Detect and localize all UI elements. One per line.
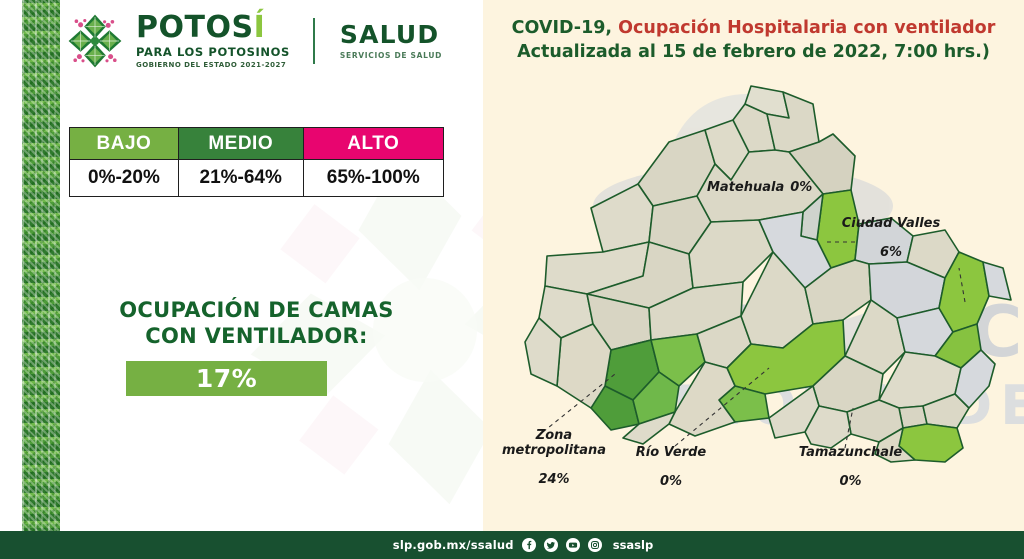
legend-header-row: BAJO MEDIO ALTO (70, 128, 444, 160)
label-tamazunchale-value: 0% (783, 474, 918, 489)
potosi-government-line: GOBIERNO DEL ESTADO 2021-2027 (136, 61, 290, 69)
legend-range-alto: 65%-100% (303, 160, 443, 197)
decorative-pattern-stripe (22, 0, 60, 531)
potosi-tagline: PARA LOS POTOSINOS (136, 45, 290, 59)
facebook-icon[interactable] (522, 538, 536, 552)
youtube-icon[interactable] (566, 538, 580, 552)
left-margin (0, 0, 22, 559)
brand-logo: POTOSÍ PARA LOS POTOSINOS GOBIERNO DEL E… (65, 11, 442, 71)
floral-emblem-icon (65, 11, 125, 71)
label-rio-verde-name: Río Verde (611, 445, 731, 460)
salud-title: SALUD (340, 22, 442, 47)
potosi-accent: Í (254, 10, 266, 45)
report-title-covid: COVID-19, (512, 18, 612, 38)
left-info-panel: POTOSÍ PARA LOS POTOSINOS GOBIERNO DEL E… (60, 0, 483, 531)
twitter-icon[interactable] (544, 538, 558, 552)
occupancy-title: OCUPACIÓN DE CAMAS CON VENTILADOR: (69, 297, 444, 350)
label-zona-metropolitana: Zona metropolitana 24% (489, 428, 619, 487)
label-tamazunchale-name: Tamazunchale (783, 445, 918, 460)
label-ciudad-valles: Ciudad Valles 6% (831, 216, 951, 260)
label-ciudad-valles-name: Ciudad Valles (831, 216, 951, 231)
label-matehuala-name: Matehuala (707, 180, 784, 195)
label-zona-metropolitana-name: Zona metropolitana (489, 428, 619, 458)
legend-header-bajo: BAJO (70, 128, 179, 160)
instagram-icon[interactable] (588, 538, 602, 552)
legend-range-row: 0%-20% 21%-64% 65%-100% (70, 160, 444, 197)
legend-range-bajo: 0%-20% (70, 160, 179, 197)
potosi-wordmark: POTOSÍ PARA LOS POTOSINOS GOBIERNO DEL E… (136, 13, 290, 69)
label-rio-verde-value: 0% (611, 474, 731, 489)
municipalities-map (483, 56, 1024, 486)
salud-subtitle: SERVICIOS DE SALUD (340, 51, 442, 60)
occupancy-value-badge: 17% (126, 361, 327, 396)
slide-canvas: POTOSÍ PARA LOS POTOSINOS GOBIERNO DEL E… (0, 0, 1024, 559)
footer-left-cap (0, 531, 22, 559)
legend-range-medio: 21%-64% (178, 160, 303, 197)
label-ciudad-valles-value: 6% (831, 245, 951, 260)
municipality-area (591, 184, 653, 252)
occupancy-title-line2: CON VENTILADOR: (145, 324, 367, 348)
label-zona-metropolitana-value: 24% (489, 472, 619, 487)
footer-bar: slp.gob.mx/ssalud ssaslp (22, 531, 1024, 559)
logo-divider (313, 18, 315, 64)
occupancy-title-line1: OCUPACIÓN DE CAMAS (119, 298, 393, 322)
label-rio-verde: Río Verde 0% (611, 445, 731, 489)
risk-legend-table: BAJO MEDIO ALTO 0%-20% 21%-64% 65%-100% (69, 127, 444, 197)
potosi-title: POTOSÍ (136, 13, 290, 43)
label-tamazunchale: Tamazunchale 0% (783, 445, 918, 489)
report-title-subject: Ocupación Hospitalaria con ventilador (618, 18, 995, 38)
legend-header-alto: ALTO (303, 128, 443, 160)
label-matehuala-value: 0% (790, 180, 812, 195)
state-map: ALTO SECRETO RIOVERDE (483, 56, 1024, 486)
footer-social-handle[interactable]: ssaslp (613, 538, 653, 552)
legend-header-medio: MEDIO (178, 128, 303, 160)
map-panel: COVID-19, Ocupación Hospitalaria con ven… (483, 0, 1024, 531)
label-matehuala: Matehuala0% (707, 180, 812, 195)
footer-url[interactable]: slp.gob.mx/ssalud (393, 538, 514, 552)
salud-wordmark: SALUD SERVICIOS DE SALUD (340, 22, 442, 60)
